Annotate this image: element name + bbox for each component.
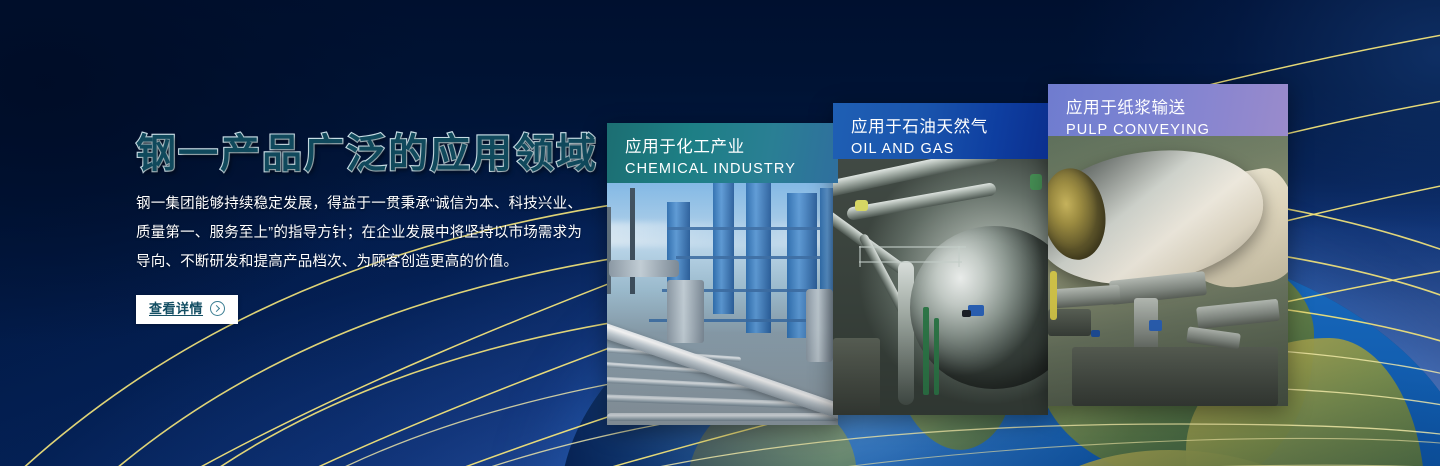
view-details-label: 查看详情 [149, 301, 203, 317]
card-title-en: PULP CONVEYING [1066, 121, 1288, 140]
application-card-pulp[interactable]: 应用于纸浆输送 PULP CONVEYING [1048, 84, 1288, 406]
card-header-oil-and-gas: 应用于石油天然气 OIL AND GAS [833, 103, 1048, 159]
view-details-button[interactable]: 查看详情 [136, 295, 238, 324]
card-photo-pulp [1048, 136, 1288, 406]
application-card-chemical[interactable]: 应用于化工产业 CHEMICAL INDUSTRY [607, 123, 838, 425]
card-header-chemical: 应用于化工产业 CHEMICAL INDUSTRY [607, 123, 838, 183]
banner-copy: 钢一产品广泛的应用领域 钢一集团能够持续稳定发展，得益于一贯秉承“诚信为本、科技… [136, 134, 606, 324]
card-title-cn: 应用于纸浆输送 [1066, 98, 1288, 120]
page-title: 钢一产品广泛的应用领域 [136, 134, 606, 174]
card-photo-oil-and-gas [833, 159, 1048, 415]
application-card-oil-and-gas[interactable]: 应用于石油天然气 OIL AND GAS [833, 103, 1048, 415]
hero-banner: 钢一产品广泛的应用领域 钢一集团能够持续稳定发展，得益于一贯秉承“诚信为本、科技… [0, 0, 1440, 466]
card-title-cn: 应用于石油天然气 [851, 117, 1048, 139]
banner-description: 钢一集团能够持续稳定发展，得益于一贯秉承“诚信为本、科技兴业、质量第一、服务至上… [136, 190, 588, 277]
card-title-cn: 应用于化工产业 [625, 137, 838, 159]
circle-arrow-right-icon [210, 301, 225, 316]
card-photo-chemical [607, 183, 838, 425]
card-header-pulp: 应用于纸浆输送 PULP CONVEYING [1048, 84, 1288, 136]
card-title-en: CHEMICAL INDUSTRY [625, 160, 838, 179]
card-title-en: OIL AND GAS [851, 140, 1048, 159]
